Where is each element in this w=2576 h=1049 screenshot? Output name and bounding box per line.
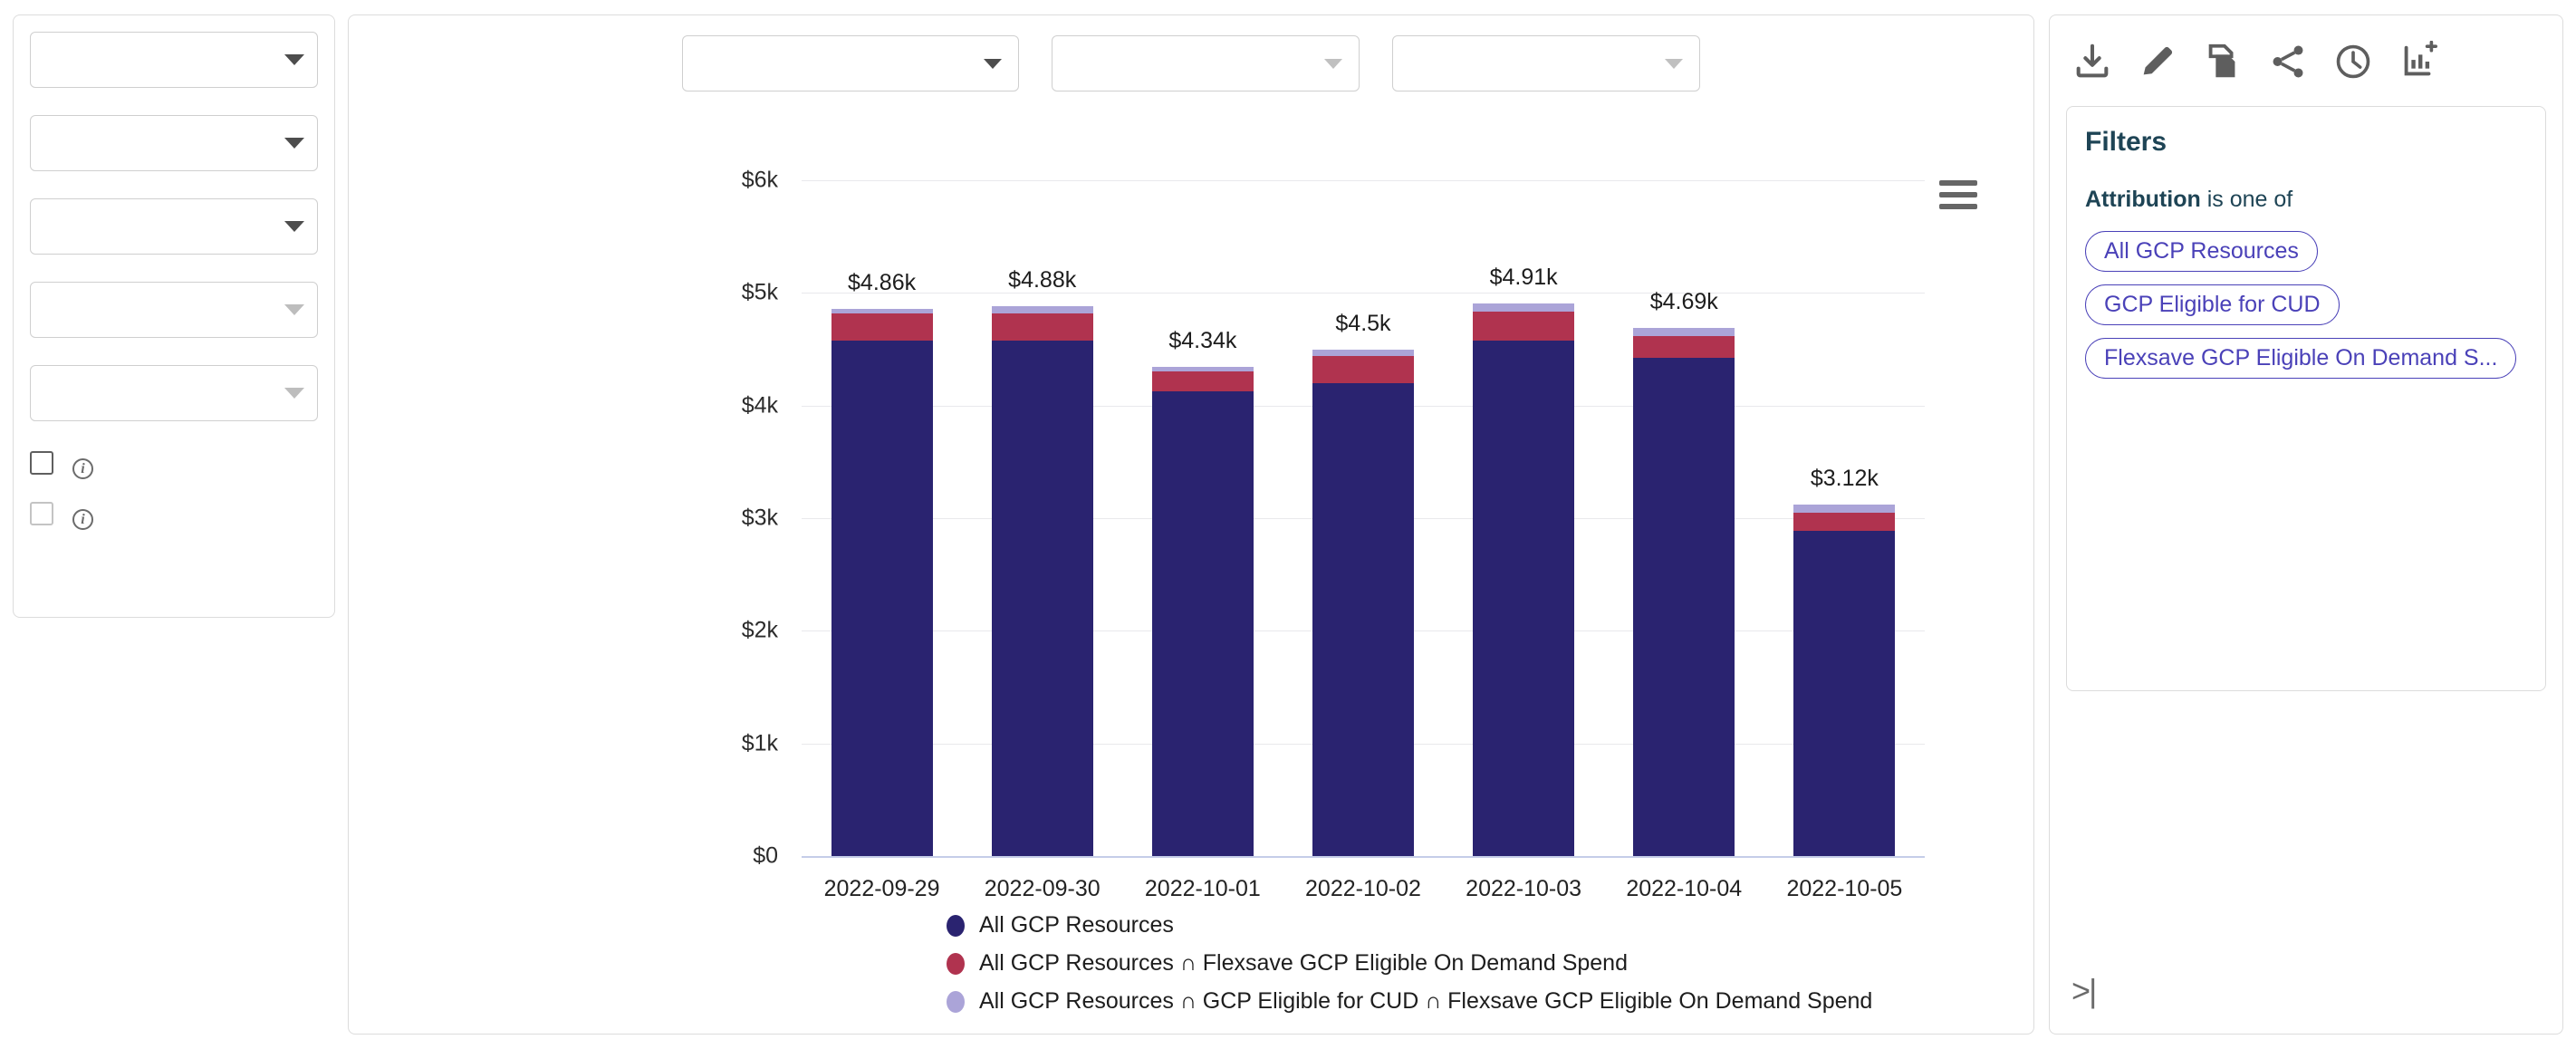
config-field-aggregation[interactable] <box>30 115 318 171</box>
bar-value-label: $4.69k <box>1650 289 1718 315</box>
chevron-down-icon[interactable] <box>984 59 1002 69</box>
y-axis-tick: $1k <box>742 730 778 756</box>
panel-toolbar <box>2066 35 2546 82</box>
filter-chip[interactable]: Flexsave GCP Eligible On Demand S... <box>2085 338 2516 379</box>
chart-area: $0$1k$2k$3k$4k$5k$6k$4.86k2022-09-29$4.8… <box>349 115 2033 1012</box>
chart-legend: All GCP ResourcesAll GCP Resources ∩ Fle… <box>947 912 1872 1015</box>
filter-rule-field: Attribution <box>2085 187 2201 212</box>
checkbox-input[interactable] <box>30 451 53 475</box>
gridline <box>802 856 1925 858</box>
chevron-down-icon[interactable] <box>284 138 304 149</box>
bar-segment[interactable] <box>831 341 933 856</box>
bar-segment[interactable] <box>1633 358 1735 856</box>
config-field-list <box>30 32 318 421</box>
stacked-bar[interactable] <box>1312 350 1414 857</box>
bar-segment[interactable] <box>992 306 1093 313</box>
bar-segment[interactable] <box>1312 383 1414 856</box>
stacked-bar[interactable] <box>1473 303 1574 856</box>
chart-control-view-as[interactable] <box>682 35 1019 91</box>
bar-column[interactable]: $4.34k2022-10-01 <box>1122 180 1283 856</box>
history-clock-icon[interactable] <box>2332 41 2374 82</box>
add-to-report-icon[interactable] <box>2398 41 2439 82</box>
x-axis-tick: 2022-10-01 <box>1145 876 1261 902</box>
checkbox-row[interactable]: i <box>30 448 318 479</box>
bar-column[interactable]: $4.5k2022-10-02 <box>1283 180 1443 856</box>
bar-column[interactable]: $4.91k2022-10-03 <box>1444 180 1604 856</box>
bar-value-label: $4.86k <box>848 270 916 296</box>
bar-column[interactable]: $3.12k2022-10-05 <box>1764 180 1925 856</box>
legend-item[interactable]: All GCP Resources <box>947 912 1872 938</box>
x-axis-tick: 2022-10-03 <box>1466 876 1581 902</box>
y-axis-tick: $3k <box>742 505 778 532</box>
chevron-down-icon[interactable] <box>1665 59 1683 69</box>
config-field-metric[interactable] <box>30 32 318 88</box>
stacked-bar[interactable] <box>1152 367 1254 856</box>
checkbox-label: i <box>66 448 93 479</box>
bar-segment[interactable] <box>1152 371 1254 390</box>
hamburger-menu-icon[interactable] <box>1939 180 1977 209</box>
bar-value-label: $3.12k <box>1811 466 1879 492</box>
chart-panel: $0$1k$2k$3k$4k$5k$6k$4.86k2022-09-29$4.8… <box>348 14 2034 1035</box>
y-axis-tick: $4k <box>742 392 778 419</box>
bar-segment[interactable] <box>1793 505 1895 513</box>
x-axis-tick: 2022-10-05 <box>1786 876 1902 902</box>
chevron-down-icon[interactable] <box>284 221 304 232</box>
legend-label: All GCP Resources <box>979 912 1174 938</box>
legend-label: All GCP Resources ∩ Flexsave GCP Eligibl… <box>979 950 1628 977</box>
chevron-down-icon[interactable] <box>284 54 304 65</box>
x-axis-tick: 2022-10-02 <box>1305 876 1421 902</box>
info-icon[interactable]: i <box>72 458 93 479</box>
stacked-bar[interactable] <box>1793 505 1895 856</box>
share-icon[interactable] <box>2267 41 2309 82</box>
bar-segment[interactable] <box>1473 303 1574 313</box>
y-axis-tick: $2k <box>742 618 778 644</box>
filters-title: Filters <box>2085 127 2527 158</box>
filters-card: Filters Attribution is one of All GCP Re… <box>2066 106 2546 691</box>
cost-report-page: ii $0$1k$2k$3k$4k$5k$6k$4.86k2022-09-29$… <box>0 0 2576 1049</box>
stacked-bar[interactable] <box>1633 328 1735 856</box>
chevron-down-icon[interactable] <box>284 388 304 399</box>
bar-value-label: $4.34k <box>1168 328 1236 354</box>
legend-color-swatch <box>947 915 965 937</box>
y-axis-tick: $5k <box>742 280 778 306</box>
bar-segment[interactable] <box>1793 531 1895 856</box>
bar-segment[interactable] <box>831 313 933 341</box>
download-icon[interactable] <box>2071 41 2113 82</box>
checkbox-label: i <box>66 499 93 530</box>
bar-group: $4.86k2022-09-29$4.88k2022-09-30$4.34k20… <box>802 180 1925 856</box>
y-axis-tick: $0 <box>753 843 778 870</box>
y-axis-tick: $6k <box>742 168 778 194</box>
stacked-bar[interactable] <box>831 309 933 856</box>
chart-control-view-data-as[interactable] <box>1052 35 1360 91</box>
config-field-time-range[interactable] <box>30 365 318 421</box>
edit-pencil-icon[interactable] <box>2137 41 2178 82</box>
chevron-down-icon[interactable] <box>284 304 304 315</box>
legend-color-swatch <box>947 953 965 975</box>
bar-column[interactable]: $4.69k2022-10-04 <box>1604 180 1764 856</box>
legend-label: All GCP Resources ∩ GCP Eligible for CUD… <box>979 988 1872 1015</box>
filter-rule-operator: is one of <box>2207 187 2293 212</box>
bar-segment[interactable] <box>1473 312 1574 340</box>
filter-chip-list: All GCP ResourcesGCP Eligible for CUDFle… <box>2085 231 2527 379</box>
stacked-bar[interactable] <box>992 306 1093 856</box>
filter-chip[interactable]: GCP Eligible for CUD <box>2085 284 2340 325</box>
chevron-down-icon[interactable] <box>1324 59 1342 69</box>
bar-segment[interactable] <box>992 341 1093 856</box>
bar-segment[interactable] <box>1633 328 1735 336</box>
bar-column[interactable]: $4.88k2022-09-30 <box>962 180 1122 856</box>
bar-segment[interactable] <box>1793 513 1895 531</box>
bar-segment[interactable] <box>1473 341 1574 856</box>
legend-item[interactable]: All GCP Resources ∩ Flexsave GCP Eligibl… <box>947 950 1872 977</box>
x-axis-tick: 2022-09-30 <box>985 876 1101 902</box>
bar-segment[interactable] <box>992 313 1093 341</box>
checkbox-row[interactable]: i <box>30 499 318 530</box>
x-axis-tick: 2022-10-04 <box>1626 876 1742 902</box>
bar-value-label: $4.91k <box>1490 265 1558 291</box>
bar-value-label: $4.88k <box>1008 267 1076 294</box>
bar-segment[interactable] <box>1312 356 1414 383</box>
side-panel: Filters Attribution is one of All GCP Re… <box>2049 14 2563 1035</box>
collapse-panel-icon[interactable]: >| <box>2071 972 2095 1010</box>
bar-value-label: $4.5k <box>1335 311 1390 337</box>
x-axis-tick: 2022-09-29 <box>824 876 940 902</box>
plot-region: $0$1k$2k$3k$4k$5k$6k$4.86k2022-09-29$4.8… <box>802 180 1925 856</box>
bar-segment[interactable] <box>1152 391 1254 856</box>
config-panel: ii <box>13 14 335 618</box>
config-field-ml-features[interactable] <box>30 198 318 255</box>
config-checkbox-list: ii <box>30 448 318 530</box>
chart-control-currency[interactable] <box>1392 35 1700 91</box>
chart-controls-bar <box>349 15 2033 91</box>
checkbox-input[interactable] <box>30 502 53 525</box>
filter-chip[interactable]: All GCP Resources <box>2085 231 2318 272</box>
bar-segment[interactable] <box>1633 336 1735 359</box>
filter-rule: Attribution is one of <box>2085 187 2527 213</box>
bar-column[interactable]: $4.86k2022-09-29 <box>802 180 962 856</box>
duplicate-icon[interactable] <box>2202 41 2244 82</box>
legend-color-swatch <box>947 991 965 1013</box>
legend-item[interactable]: All GCP Resources ∩ GCP Eligible for CUD… <box>947 988 1872 1015</box>
bar-segment[interactable] <box>1312 350 1414 356</box>
info-icon[interactable]: i <box>72 509 93 530</box>
config-field-time-interval[interactable] <box>30 282 318 338</box>
